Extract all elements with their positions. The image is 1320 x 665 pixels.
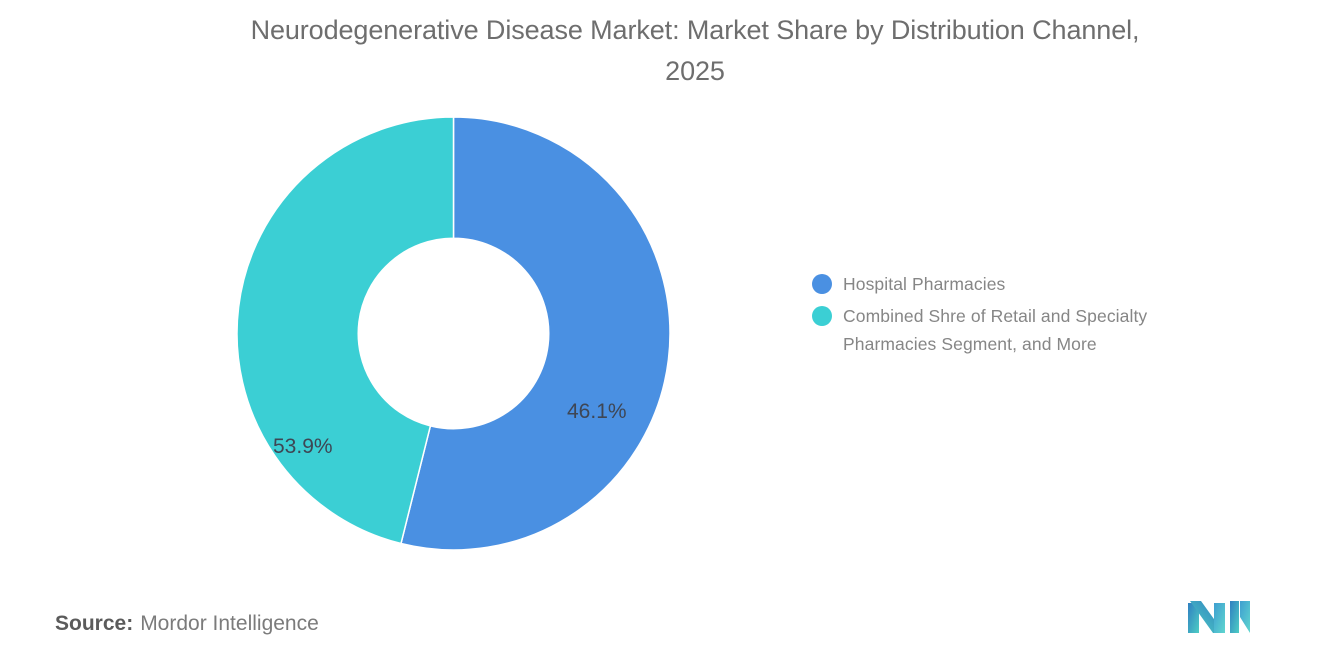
legend-swatch-icon-hospital-pharmacies [812, 274, 832, 294]
donut-chart [237, 117, 670, 550]
source-attribution: Source:Mordor Intelligence [55, 612, 319, 636]
legend-label-hospital-pharmacies: Hospital Pharmacies [843, 270, 1005, 298]
source-value: Mordor Intelligence [140, 612, 319, 635]
legend-item-combined-share[interactable]: Combined Shre of Retail and Specialty Ph… [812, 302, 1282, 358]
source-label: Source: [55, 612, 133, 635]
data-label-hospital-pharmacies: 53.9% [273, 435, 333, 459]
data-label-combined-share: 46.1% [567, 400, 627, 424]
chart-title: Neurodegenerative Disease Market: Market… [150, 10, 1240, 92]
legend-label-combined-share: Combined Shre of Retail and Specialty Ph… [843, 302, 1235, 358]
chart-plot-area: 53.9% 46.1% [0, 95, 790, 585]
chart-legend: Hospital Pharmacies Combined Shre of Ret… [812, 270, 1282, 362]
donut-chart-svg [237, 117, 670, 550]
donut-slice-group [237, 117, 670, 550]
mordor-intelligence-logo-icon [1186, 597, 1254, 637]
legend-swatch-icon-combined-share [812, 306, 832, 326]
legend-item-hospital-pharmacies[interactable]: Hospital Pharmacies [812, 270, 1282, 298]
